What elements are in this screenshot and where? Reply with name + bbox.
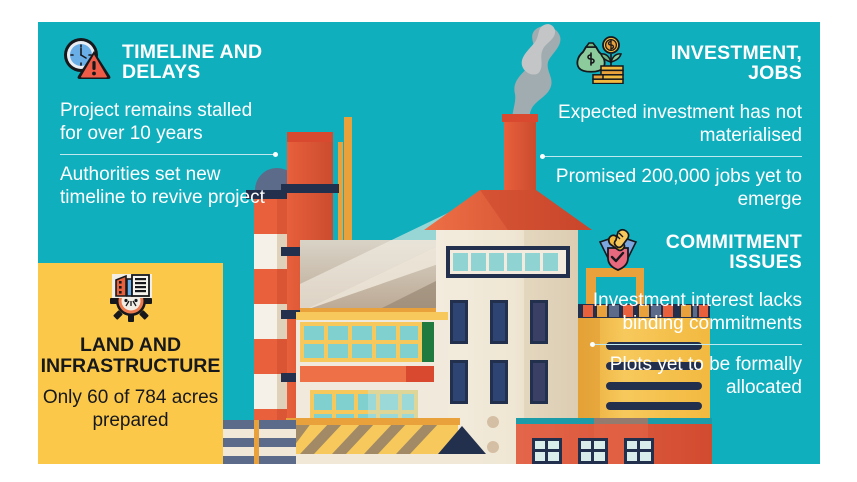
- money-growth-icon: [571, 36, 627, 89]
- investment-divider: [540, 156, 802, 157]
- investment-statement-2: Promised 200,000 jobs yet to emerge: [540, 165, 802, 211]
- timeline-divider: [60, 154, 278, 155]
- land-title: LAND AND INFRASTRUCTURE: [38, 335, 223, 377]
- clock-warning-icon: [60, 36, 112, 87]
- commitment-header: COMMITMENT ISSUES: [590, 226, 802, 277]
- investment-title: INVESTMENT, JOBS: [637, 43, 802, 83]
- timeline-header: TIMELINE AND DELAYS: [60, 36, 278, 87]
- section-commitment-issues: COMMITMENT ISSUES Investment interest la…: [590, 226, 802, 399]
- land-statement-1: Only 60 of 784 acres prepared: [38, 386, 223, 432]
- commitment-title: COMMITMENT ISSUES: [652, 232, 802, 272]
- divider-dot: [273, 152, 278, 157]
- section-investment-jobs: INVESTMENT, JOBS Expected investment has…: [540, 36, 802, 211]
- timeline-title: TIMELINE AND DELAYS: [122, 42, 278, 82]
- stacked-slabs: [218, 420, 296, 464]
- commitment-statement-2: Plots yet to be formally allocated: [590, 353, 802, 399]
- commitment-statement-1: Investment interest lacks binding commit…: [590, 289, 802, 335]
- timeline-statement-2: Authorities set new timeline to revive p…: [60, 163, 278, 209]
- commitment-divider: [590, 344, 802, 345]
- investment-statement-1: Expected investment has not materialised: [540, 101, 802, 147]
- residential-block: [516, 418, 712, 464]
- infographic-canvas: TIMELINE AND DELAYS Project remains stal…: [0, 0, 857, 482]
- section-timeline-and-delays: TIMELINE AND DELAYS Project remains stal…: [60, 36, 278, 209]
- divider-dot: [540, 154, 545, 159]
- buildings-gear-icon: [102, 272, 160, 331]
- section-land-and-infrastructure: LAND AND INFRASTRUCTURE Only 60 of 784 a…: [38, 272, 223, 432]
- awning-building: [286, 418, 486, 464]
- divider-dot: [590, 342, 595, 347]
- investment-header: INVESTMENT, JOBS: [540, 36, 802, 89]
- handshake-shield-icon: [594, 226, 642, 277]
- timeline-statement-1: Project remains stalled for over 10 year…: [60, 99, 278, 145]
